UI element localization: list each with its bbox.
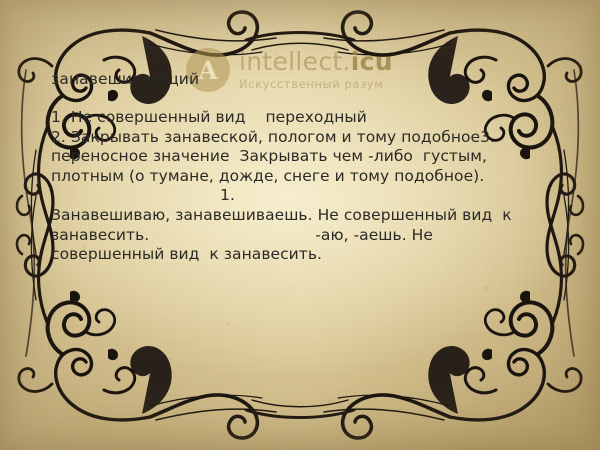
conjugation-line-1: Занавешиваю, занавешиваешь. Не совершенн… <box>51 206 571 226</box>
definition-line-3: переносное значение Закрывать чем -либо … <box>51 147 571 167</box>
conjugation-line-2: занавесить.-аю, -аешь. Не <box>51 226 571 246</box>
definition-line-2: 2. Закрывать занавеской, пологом и тому … <box>51 128 571 148</box>
definition-line-4: плотным (о тумане, дожде, снеге и тому п… <box>51 167 571 187</box>
entry-content: занавешивающий 1. Не совершенный вид пер… <box>0 0 600 450</box>
entry-headword: занавешивающий <box>51 70 199 88</box>
conjugation-line-3: совершенный вид к занавесить. <box>51 245 571 265</box>
conjugation-line-2-end: -аю, -аешь. Не <box>315 226 433 244</box>
definition-line-1: 1. Не совершенный вид переходный <box>51 108 571 128</box>
conjugation-line-2-start: занавесить. <box>51 226 149 244</box>
section-number: 1. <box>51 186 404 206</box>
dictionary-entry-card: A intellect.icu Искусственный разум зана… <box>0 0 600 450</box>
definition-body: 1. Не совершенный вид переходный 2. Закр… <box>51 108 571 265</box>
